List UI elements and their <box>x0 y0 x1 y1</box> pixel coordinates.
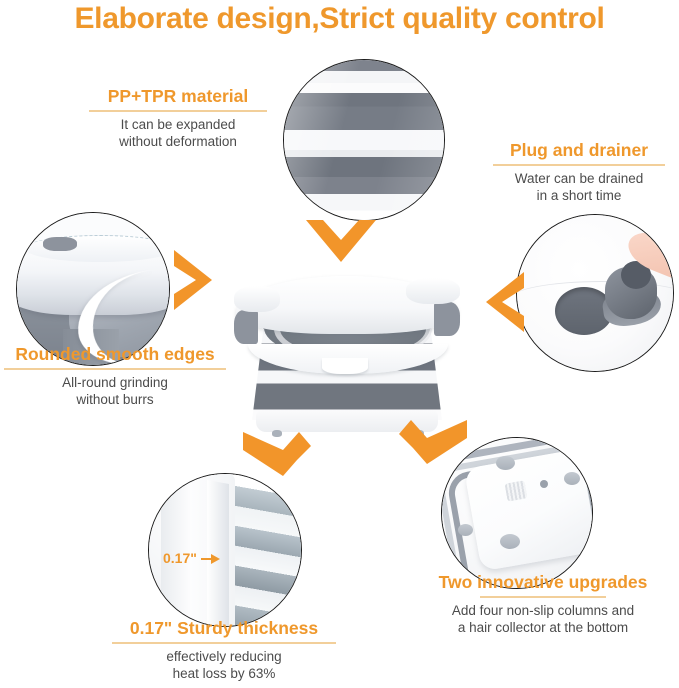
inset-drain-plug <box>516 214 674 372</box>
non-slip-column <box>500 534 520 549</box>
heading-underline <box>493 164 665 166</box>
rim-grey-tab <box>43 237 77 251</box>
non-slip-column <box>564 472 580 485</box>
feature-description-line: All-round grinding <box>0 374 232 392</box>
heading-underline <box>89 110 267 112</box>
arrow-left-icon <box>486 272 528 332</box>
feature-heading: PP+TPR material <box>75 86 281 107</box>
hair-collector-mesh <box>505 480 528 501</box>
gloss-overlay <box>284 60 444 220</box>
bottom-screw <box>540 480 548 488</box>
feature-description: All-round grinding without burrs <box>0 374 232 409</box>
feature-description: Water can be drained in a short time <box>484 170 674 205</box>
infographic-canvas: Elaborate design,Strict quality control <box>0 0 679 688</box>
heading-underline <box>112 642 336 644</box>
thickness-callout-label: 0.17" <box>163 550 197 566</box>
feature-description: Add four non-slip columns and a hair col… <box>418 602 668 637</box>
feature-description-line: a hair collector at the bottom <box>418 619 668 637</box>
feature-description-line: in a short time <box>484 187 674 205</box>
arrow-down-icon <box>306 220 376 262</box>
feature-description: It can be expanded without deformation <box>75 116 281 151</box>
feature-plug-and-drainer: Plug and drainer Water can be drained in… <box>484 140 674 205</box>
feature-rounded-smooth-edges: Rounded smooth edges All-round grinding … <box>0 344 232 409</box>
inset-edge-thickness: 0.17" <box>148 473 302 627</box>
feature-two-innovative-upgrades: Two innovative upgrades Add four non-sli… <box>418 572 668 637</box>
feature-description-line: without deformation <box>75 133 281 151</box>
basket-left-handle <box>234 286 280 312</box>
page-title: Elaborate design,Strict quality control <box>0 2 679 36</box>
inset-rounded-rim <box>16 212 170 366</box>
basket-assembly <box>238 280 456 424</box>
feature-description-line: effectively reducing <box>98 648 350 666</box>
feature-heading-line: upgrades <box>569 572 648 592</box>
non-slip-column <box>458 524 473 536</box>
measure-arrow-icon <box>211 554 220 564</box>
feature-heading-line: Two innovative <box>439 572 564 592</box>
layered-wall-bands <box>225 473 302 627</box>
basket-front-notch <box>322 358 368 374</box>
basket-right-handle <box>406 278 460 304</box>
feature-description-line: heat loss by 63% <box>98 665 350 683</box>
arrow-down-left-icon <box>243 424 311 482</box>
feature-description-line: Water can be drained <box>484 170 674 188</box>
heading-underline <box>4 368 226 370</box>
basket-left-grey-grip <box>234 310 258 344</box>
basket-bottom-panel <box>464 449 593 572</box>
feature-heading: Rounded smooth edges <box>0 344 232 365</box>
inset-striped-material <box>283 59 445 221</box>
feature-sturdy-thickness: 0.17" Sturdy thickness effectively reduc… <box>98 618 350 683</box>
arrow-down-right-icon <box>399 412 467 470</box>
feature-description-line: Add four non-slip columns and <box>418 602 668 620</box>
heading-underline <box>480 596 606 598</box>
basket-right-grey-grip <box>434 302 460 336</box>
feature-heading: 0.17" Sturdy thickness <box>98 618 350 639</box>
feature-description-line: without burrs <box>0 391 232 409</box>
feature-description-line: It can be expanded <box>75 116 281 134</box>
feature-description: effectively reducing heat loss by 63% <box>98 648 350 683</box>
arrow-right-icon <box>170 250 212 310</box>
feature-heading: Plug and drainer <box>484 140 674 161</box>
feature-pp-tpr-material: PP+TPR material It can be expanded witho… <box>75 86 281 151</box>
non-slip-column <box>496 456 515 470</box>
feature-heading: Two innovative upgrades <box>418 572 668 593</box>
